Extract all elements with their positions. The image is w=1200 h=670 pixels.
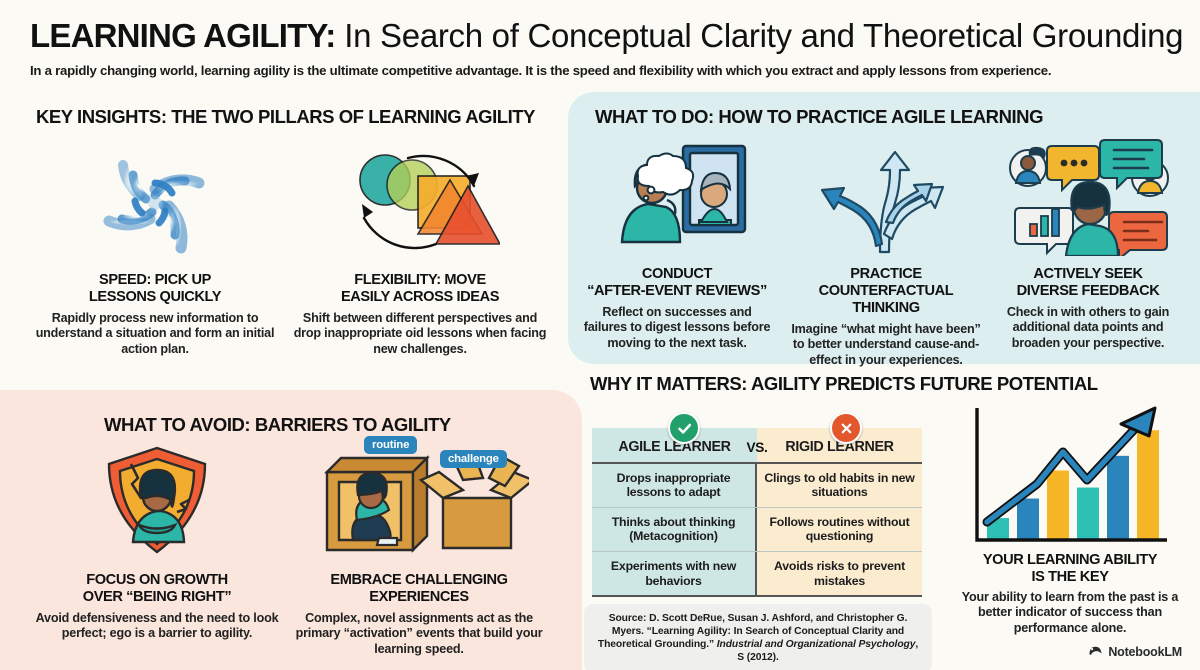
chart-bar: [1137, 430, 1159, 540]
card-cft-heading: PRACTICECOUNTERFACTUAL THINKING: [786, 266, 986, 317]
card-flexibility-body: Shift between different perspectives and…: [290, 311, 550, 357]
card-aer-body: Reflect on successes and failures to dig…: [580, 305, 774, 351]
card-embrace-heading-line2: EXPERIENCES: [369, 589, 468, 605]
card-growth-heading: FOCUS ON GROWTHOVER “BEING RIGHT”: [32, 572, 282, 606]
table-cell-rigid: Clings to old habits in new situations: [757, 464, 922, 507]
card-counterfactual-thinking: PRACTICECOUNTERFACTUAL THINKING Imagine …: [786, 134, 986, 368]
card-embrace-heading-line1: EMBRACE CHALLENGING: [330, 572, 507, 588]
card-growth-heading-line1: FOCUS ON GROWTH: [86, 572, 228, 588]
section-title-what-to-do: WHAT TO DO: HOW TO PRACTICE AGILE LEARNI…: [595, 106, 1043, 128]
table-body: Drops inappropriate lessons to adapt Cli…: [592, 464, 922, 598]
card-speed: SPEED: PICK UPLESSONS QUICKLY Rapidly pr…: [30, 140, 280, 357]
source-label: Source:: [609, 613, 647, 624]
source-journal: Industrial and Organizational Psychology: [717, 639, 916, 650]
growth-bar-chart: [948, 400, 1192, 552]
card-embrace-heading: EMBRACE CHALLENGINGEXPERIENCES: [288, 572, 550, 606]
person-mirror-reflection-icon: [580, 134, 774, 256]
chart-bar: [1107, 456, 1129, 540]
chart-heading-line1: YOUR LEARNING ABILITY: [983, 552, 1157, 568]
notebooklm-branding: NotebookLM: [1088, 644, 1182, 660]
card-growth-heading-line2: OVER “BEING RIGHT”: [83, 589, 231, 605]
tag-challenge: challenge: [440, 450, 507, 468]
card-flexibility-heading: FLEXIBILITY: MOVEEASILY ACROSS IDEAS: [290, 272, 550, 306]
page-title: LEARNING AGILITY: In Search of Conceptua…: [30, 16, 1180, 56]
agile-vs-rigid-table: AGILE LEARNER RIGID LEARNER VS. Drops in…: [592, 428, 922, 597]
card-flexibility-heading-line2: EASILY ACROSS IDEAS: [341, 289, 499, 305]
card-feedback-heading: ACTIVELY SEEKDIVERSE FEEDBACK: [990, 266, 1186, 300]
cracked-shield-person-icon: [32, 440, 282, 562]
check-circle-icon: [668, 412, 700, 444]
table-cell-agile: Experiments with new behaviors: [592, 552, 757, 595]
card-cft-heading-line2: COUNTERFACTUAL THINKING: [819, 283, 954, 316]
table-header-row: AGILE LEARNER RIGID LEARNER VS.: [592, 428, 922, 464]
section-title-what-to-avoid: WHAT TO AVOID: BARRIERS TO AGILITY: [104, 414, 451, 436]
tag-routine: routine: [364, 436, 417, 454]
source-citation: Source: D. Scott DeRue, Susan J. Ashford…: [584, 604, 932, 670]
card-embrace-challenges: routine challenge EMBRACE CHALLENGINGEXP…: [288, 440, 550, 657]
card-aer-heading: CONDUCT“AFTER-EVENT REVIEWS”: [580, 266, 774, 300]
card-flexibility-heading-line1: FLEXIBILITY: MOVE: [354, 272, 486, 288]
chart-heading: YOUR LEARNING ABILITYIS THE KEY: [948, 552, 1192, 586]
section-title-key-insights: KEY INSIGHTS: THE TWO PILLARS OF LEARNIN…: [36, 106, 535, 128]
card-cft-heading-line1: PRACTICE: [850, 266, 921, 282]
card-speed-body: Rapidly process new information to under…: [30, 311, 280, 357]
chart-heading-line2: IS THE KEY: [1031, 569, 1108, 585]
card-feedback-heading-line2: DIVERSE FEEDBACK: [1017, 283, 1160, 299]
card-aer-heading-line2: “AFTER-EVENT REVIEWS”: [587, 283, 767, 299]
card-speed-heading: SPEED: PICK UPLESSONS QUICKLY: [30, 272, 280, 306]
upward-trend-arrow: [987, 408, 1155, 522]
card-feedback-heading-line1: ACTIVELY SEEK: [1033, 266, 1142, 282]
chart-body: Your ability to learn from the past is a…: [948, 590, 1192, 636]
card-growth-body: Avoid defensiveness and the need to look…: [32, 611, 282, 642]
chart-bar: [1077, 488, 1099, 540]
table-vs-label: VS.: [746, 440, 767, 455]
chart-bar: [1017, 499, 1039, 540]
table-cell-agile: Thinks about thinking (Metacognition): [592, 508, 757, 551]
page-subtitle: In a rapidly changing world, learning ag…: [30, 63, 1180, 78]
card-speed-heading-line1: SPEED: PICK UP: [99, 272, 211, 288]
card-speed-heading-line2: LESSONS QUICKLY: [89, 289, 221, 305]
x-circle-icon: [830, 412, 862, 444]
table-row: Drops inappropriate lessons to adapt Cli…: [592, 464, 922, 508]
spiral-vortex-icon: [30, 140, 280, 262]
table-cell-rigid: Follows routines without questioning: [757, 508, 922, 551]
table-cell-rigid: Avoids risks to prevent mistakes: [757, 552, 922, 595]
branching-arrows-icon: [786, 134, 986, 256]
infographic-page: LEARNING AGILITY: In Search of Conceptua…: [0, 0, 1200, 670]
card-focus-on-growth: FOCUS ON GROWTHOVER “BEING RIGHT” Avoid …: [32, 440, 282, 642]
shapes-rotation-icon: [290, 140, 550, 262]
learning-ability-chart-block: YOUR LEARNING ABILITYIS THE KEY Your abi…: [948, 400, 1192, 636]
card-feedback-body: Check in with others to gain additional …: [990, 305, 1186, 351]
card-aer-heading-line1: CONDUCT: [642, 266, 712, 282]
page-title-rest: In Search of Conceptual Clarity and Theo…: [335, 17, 1183, 54]
page-title-bold: LEARNING AGILITY:: [30, 17, 335, 54]
person-in-box-icon: routine challenge: [288, 440, 550, 562]
page-header: LEARNING AGILITY: In Search of Conceptua…: [30, 16, 1180, 78]
table-row: Experiments with new behaviors Avoids ri…: [592, 552, 922, 597]
feedback-speech-bubbles-icon: [990, 134, 1186, 256]
table-row: Thinks about thinking (Metacognition) Fo…: [592, 508, 922, 552]
card-cft-body: Imagine “what might have been” to better…: [786, 322, 986, 368]
table-cell-agile: Drops inappropriate lessons to adapt: [592, 464, 757, 507]
notebooklm-label: NotebookLM: [1108, 645, 1182, 659]
card-after-event-reviews: CONDUCT“AFTER-EVENT REVIEWS” Reflect on …: [580, 134, 774, 351]
section-title-why-it-matters: WHY IT MATTERS: AGILITY PREDICTS FUTURE …: [590, 373, 1098, 395]
card-embrace-body: Complex, novel assignments act as the pr…: [288, 611, 550, 657]
notebooklm-logo-icon: [1088, 644, 1103, 660]
chart-bar: [1047, 470, 1069, 540]
card-diverse-feedback: ACTIVELY SEEKDIVERSE FEEDBACK Check in w…: [990, 134, 1186, 351]
card-flexibility: FLEXIBILITY: MOVEEASILY ACROSS IDEAS Shi…: [290, 140, 550, 357]
